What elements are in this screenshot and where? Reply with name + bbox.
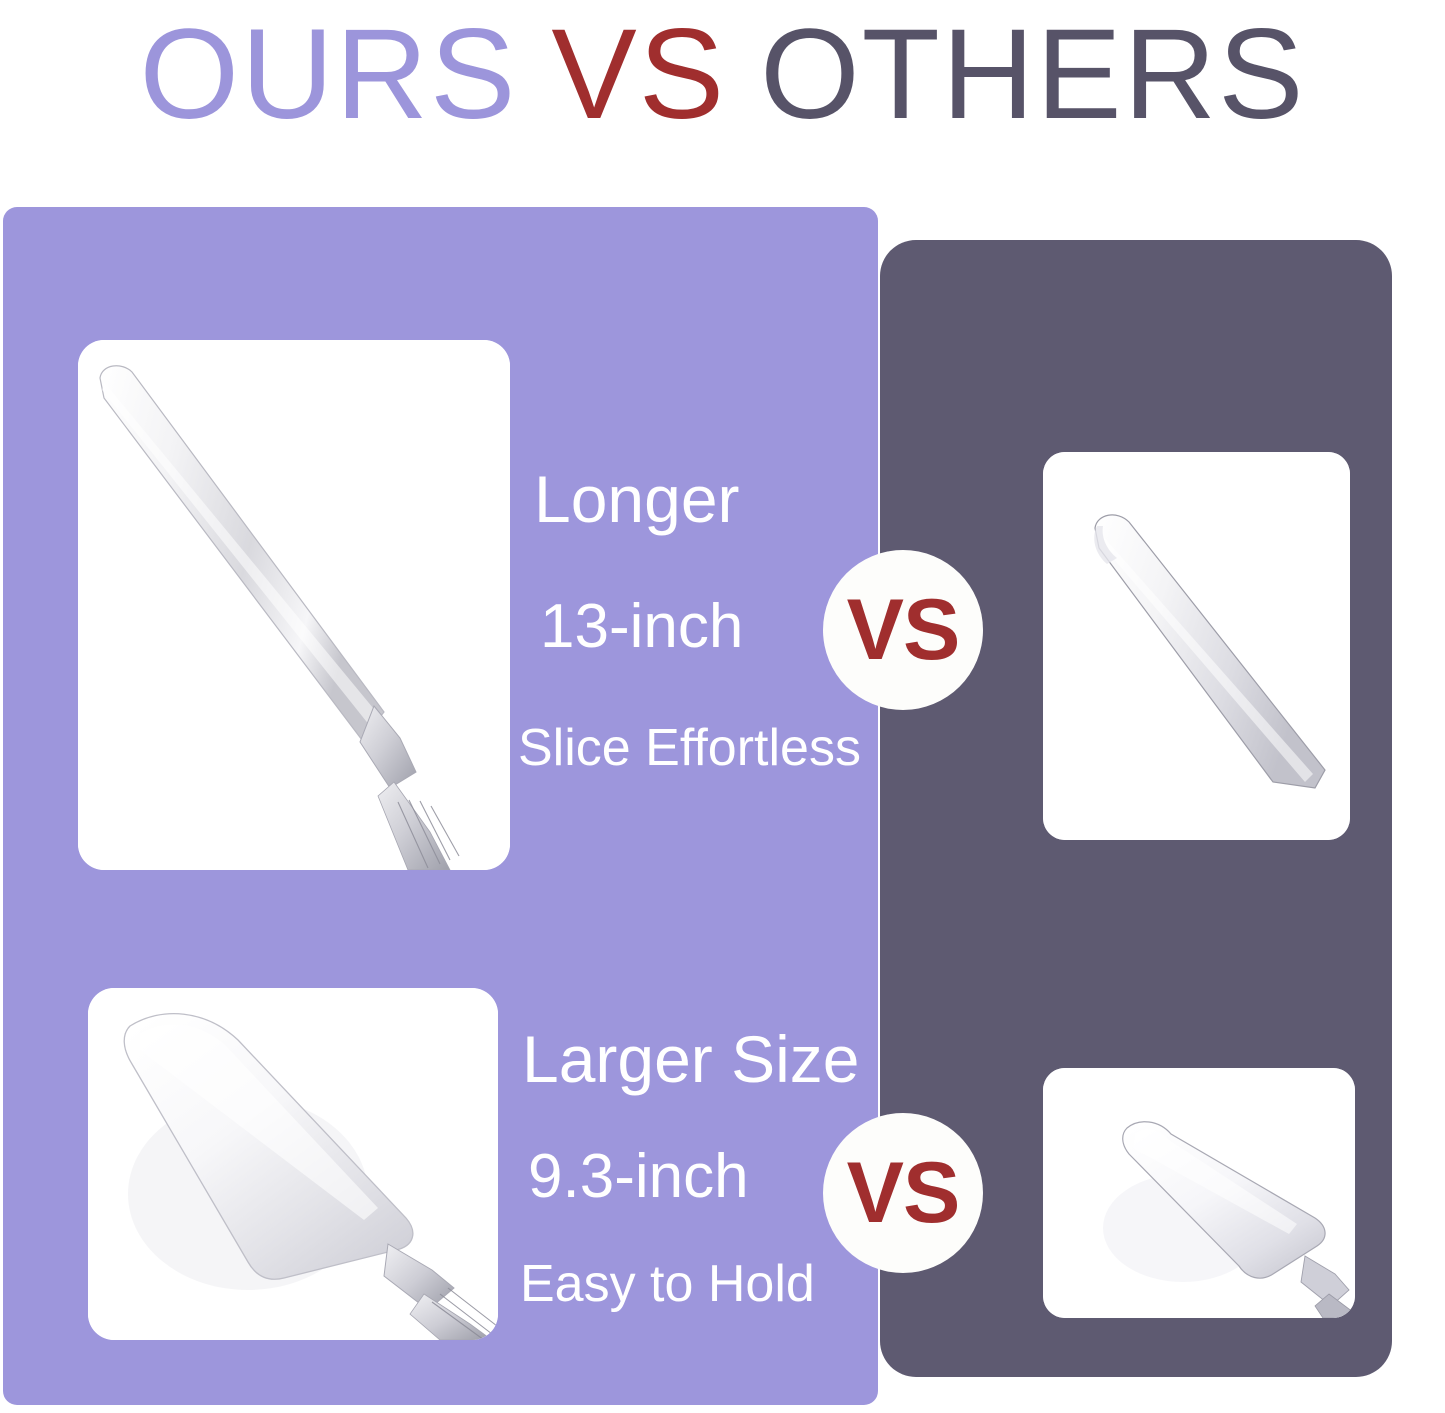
page-title: OURS VS OTHERS <box>0 0 1445 150</box>
others-product-card-knife <box>1043 452 1350 840</box>
ours-product-card-knife <box>78 340 510 870</box>
feature-1-measurement: 13-inch <box>540 596 743 658</box>
long-cake-knife-image <box>78 340 510 870</box>
small-cake-server-image <box>1043 1068 1355 1318</box>
feature-1-subtitle: Slice Effortless <box>518 722 861 774</box>
feature-2-title: Larger Size <box>522 1026 860 1092</box>
short-knife-image <box>1043 452 1350 840</box>
title-vs: VS <box>551 11 726 139</box>
infographic-canvas: OURS VS OTHERS <box>0 0 1445 1413</box>
title-others: OTHERS <box>760 11 1305 139</box>
ours-product-card-server <box>88 988 498 1340</box>
vs-badge-2: VS <box>823 1113 983 1273</box>
title-ours: OURS <box>140 11 518 139</box>
feature-2-measurement: 9.3-inch <box>528 1146 749 1208</box>
feature-2-subtitle: Easy to Hold <box>520 1258 815 1310</box>
vs-badge-2-label: VS <box>847 1150 960 1236</box>
feature-1-title: Longer <box>534 466 740 532</box>
large-cake-server-image <box>88 988 498 1340</box>
vs-badge-1: VS <box>823 550 983 710</box>
others-product-card-server <box>1043 1068 1355 1318</box>
vs-badge-1-label: VS <box>847 587 960 673</box>
